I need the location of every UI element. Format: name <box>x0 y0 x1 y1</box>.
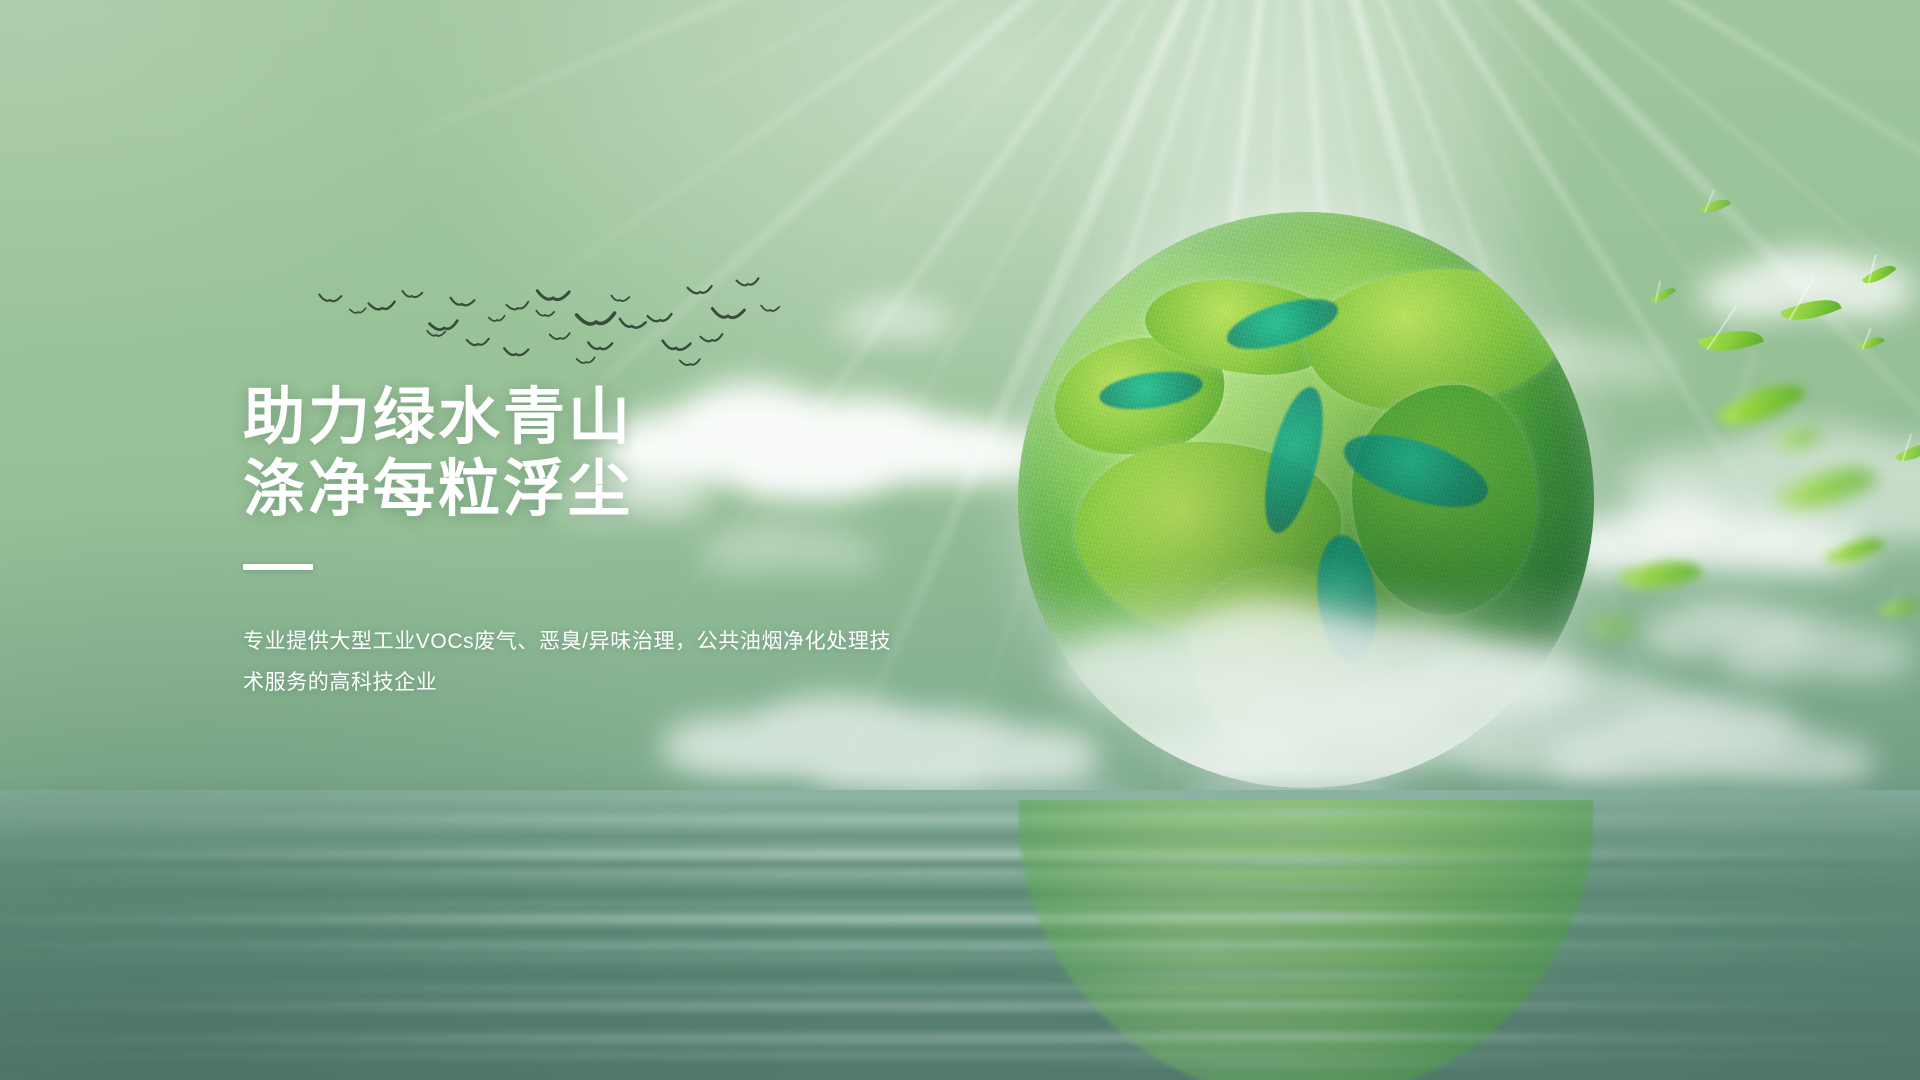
leaf-icon <box>1824 527 1885 575</box>
bird-icon <box>619 319 646 329</box>
bird-icon <box>467 339 489 346</box>
bird-icon <box>402 291 422 298</box>
bird-icon <box>761 306 779 312</box>
globe-water-reflection <box>1018 800 1594 1080</box>
leaf-icon <box>1650 283 1676 307</box>
bird-icon <box>427 331 445 337</box>
leaf-icon <box>1619 548 1703 603</box>
leaf-icon <box>1780 290 1841 330</box>
headline-line-2: 涤净每粒浮尘 <box>243 454 943 526</box>
page-title: 助力绿水青山 涤净每粒浮尘 <box>243 382 943 526</box>
headline-line-1: 助力绿水青山 <box>243 382 943 454</box>
hero-banner: 助力绿水青山 涤净每粒浮尘 专业提供大型工业VOCs废气、恶臭/异味治理，公共油… <box>0 0 1920 1080</box>
bird-icon <box>680 359 700 365</box>
bird-icon <box>319 295 341 302</box>
leaf-icon <box>1777 450 1879 527</box>
bird-icon <box>537 291 569 300</box>
water-surface <box>0 790 1920 1080</box>
bird-icon <box>536 311 554 317</box>
bird-icon <box>701 334 724 342</box>
bird-icon <box>489 316 505 322</box>
hero-copy: 助力绿水青山 涤净每粒浮尘 专业提供大型工业VOCs废气、恶臭/异味治理，公共油… <box>243 382 943 704</box>
bird-icon <box>506 302 529 311</box>
bird-icon <box>577 313 615 325</box>
bird-icon <box>450 298 475 307</box>
bird-icon <box>648 314 672 322</box>
hero-subtitle: 专业提供大型工业VOCs废气、恶臭/异味治理，公共油烟净化处理技术服务的高科技企… <box>243 622 903 704</box>
bird-icon <box>688 286 712 294</box>
bird-icon <box>350 308 366 313</box>
bird-icon <box>550 333 570 339</box>
bird-icon <box>577 357 595 363</box>
leaf-icon <box>1895 438 1920 469</box>
leaf-icon <box>1857 332 1885 354</box>
bird-icon <box>504 348 528 355</box>
grass-earth-globe <box>1018 212 1594 788</box>
bird-icon <box>712 308 744 318</box>
leaf-icon <box>1588 612 1635 642</box>
bird-icon <box>588 343 612 350</box>
bird-icon <box>611 295 629 301</box>
leaf-icon <box>1879 592 1920 624</box>
title-divider <box>243 564 313 570</box>
bird-icon <box>662 341 691 351</box>
bird-icon <box>369 302 395 310</box>
bird-icon <box>737 278 759 286</box>
leaf-icon <box>1862 259 1897 290</box>
bird-icon <box>429 321 458 331</box>
leaf-icon <box>1699 193 1731 218</box>
